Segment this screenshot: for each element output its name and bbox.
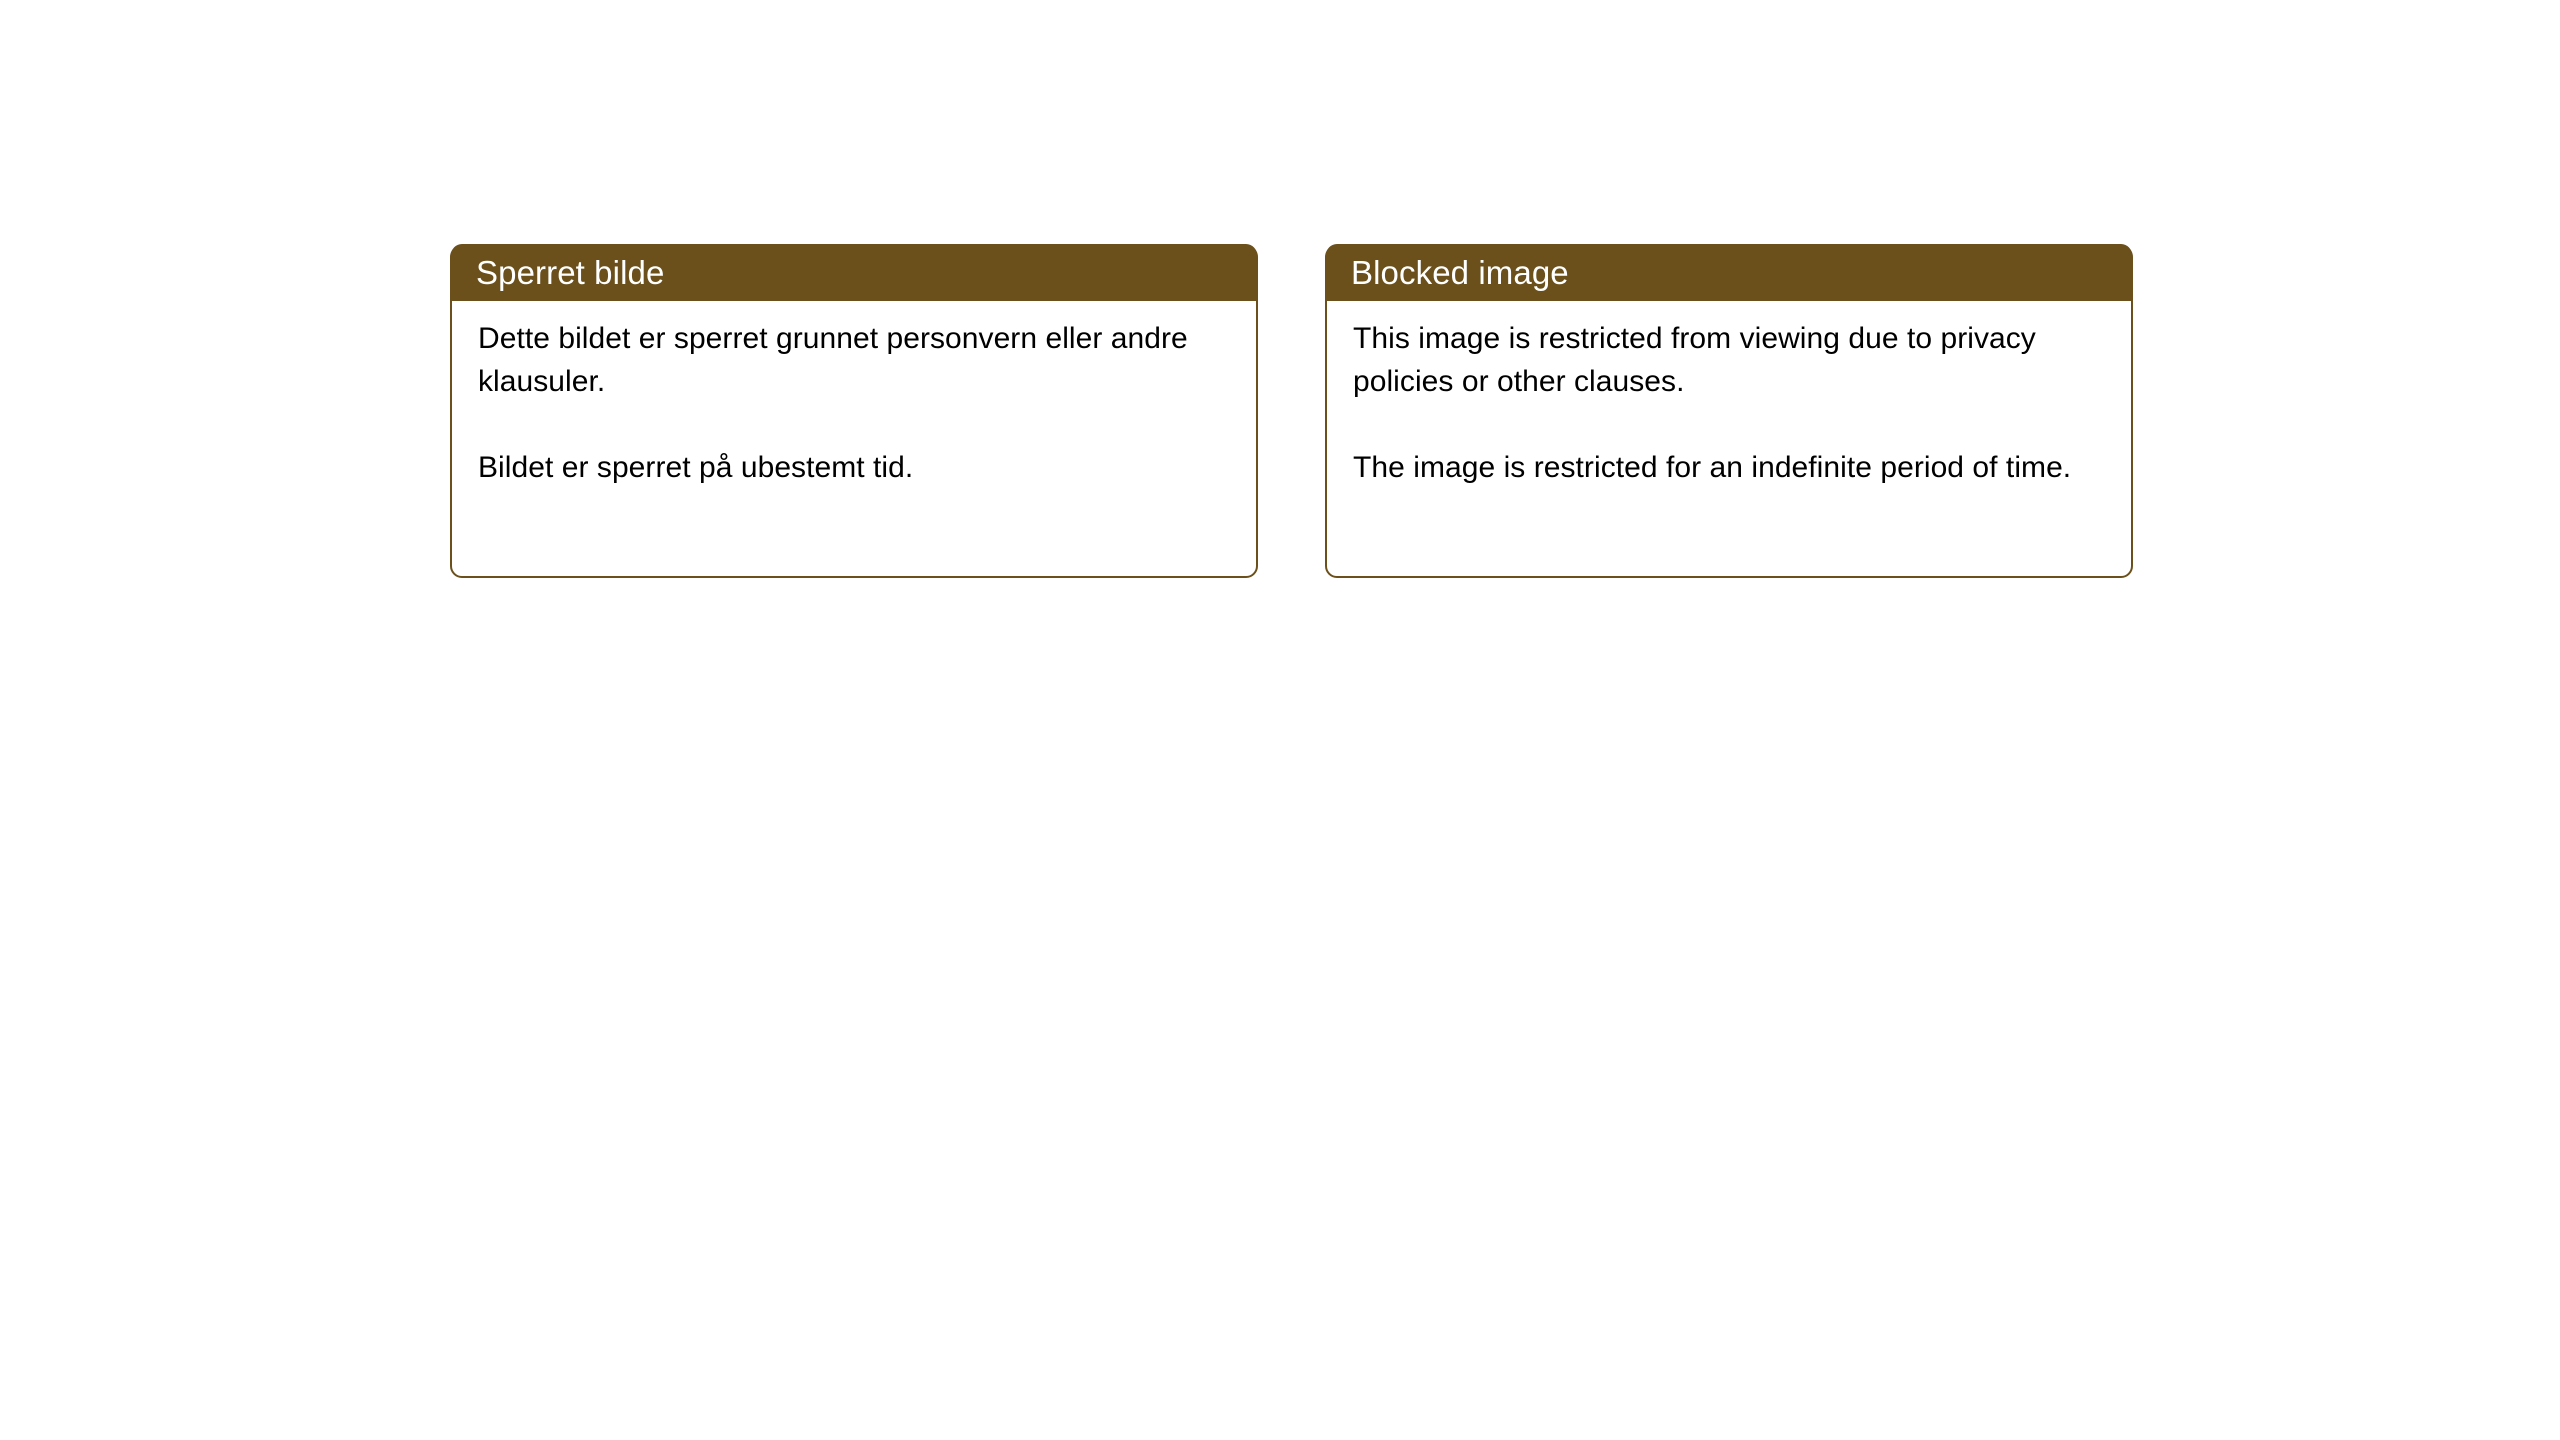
card-paragraph-primary-en: This image is restricted from viewing du…: [1353, 317, 2105, 403]
card-header-en: Blocked image: [1326, 244, 2132, 301]
card-paragraph-primary-no: Dette bildet er sperret grunnet personve…: [478, 317, 1230, 403]
card-title-no: Sperret bilde: [476, 254, 664, 292]
card-body-no: Dette bildet er sperret grunnet personve…: [452, 301, 1256, 576]
card-paragraph-secondary-no: Bildet er sperret på ubestemt tid.: [478, 446, 1230, 489]
card-header-no: Sperret bilde: [451, 244, 1257, 301]
card-body-en: This image is restricted from viewing du…: [1327, 301, 2131, 576]
blocked-image-notice-card-en: Blocked image This image is restricted f…: [1325, 245, 2133, 578]
card-title-en: Blocked image: [1351, 254, 1569, 292]
card-paragraph-secondary-en: The image is restricted for an indefinit…: [1353, 446, 2105, 489]
blocked-image-notice-card-no: Sperret bilde Dette bildet er sperret gr…: [450, 245, 1258, 578]
page-root: Sperret bilde Dette bildet er sperret gr…: [0, 0, 2560, 1440]
